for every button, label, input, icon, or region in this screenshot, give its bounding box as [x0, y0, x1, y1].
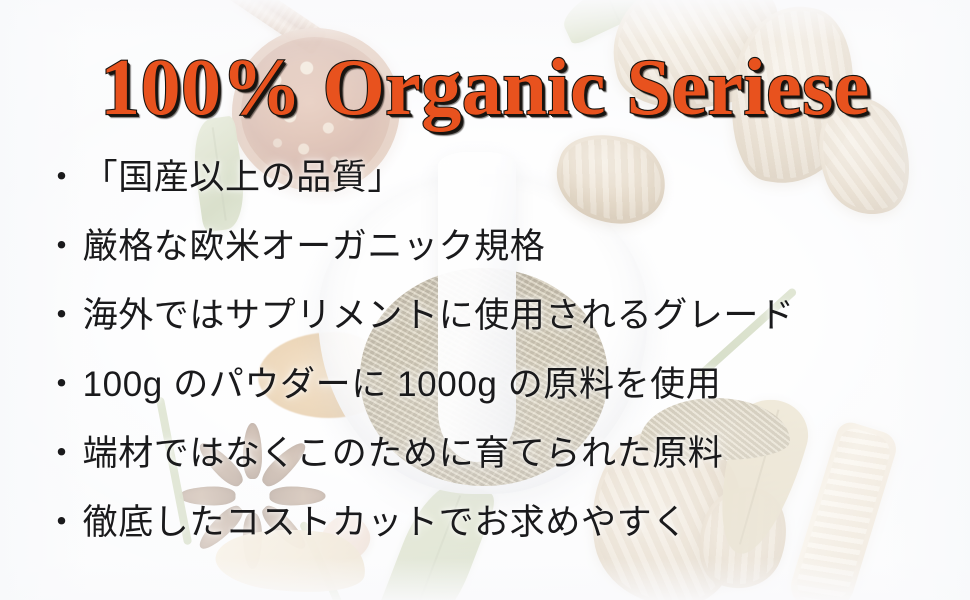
list-item: ・ 「国産以上の品質」 [44, 160, 944, 229]
bullet-dot-icon: ・ [44, 229, 80, 264]
bullet-dot-icon: ・ [44, 505, 80, 540]
bullet-dot-icon: ・ [44, 160, 80, 195]
list-item: ・ 徹底したコストカットでお求めやすく [44, 505, 944, 574]
bullet-dot-icon: ・ [44, 367, 80, 402]
list-item: ・ 厳格な欧米オーガニック規格 [44, 229, 944, 298]
list-item-label: 「国産以上の品質」 [83, 160, 403, 195]
bullet-dot-icon: ・ [44, 436, 80, 471]
list-item: ・ 海外ではサプリメントに使用されるグレード [44, 298, 944, 367]
feature-bullet-list: ・ 「国産以上の品質」 ・ 厳格な欧米オーガニック規格 ・ 海外ではサプリメント… [44, 160, 944, 574]
list-item-label: 100g のパウダーに 1000g の原料を使用 [83, 367, 722, 402]
list-item-label: 徹底したコストカットでお求めやすく [83, 505, 688, 540]
list-item-label: 厳格な欧米オーガニック規格 [83, 229, 546, 264]
list-item: ・ 端材ではなくこのために育てられた原料 [44, 436, 944, 505]
list-item-label: 端材ではなくこのために育てられた原料 [83, 436, 724, 471]
page-title: 100% Organic Seriese [0, 48, 970, 128]
list-item: ・ 100g のパウダーに 1000g の原料を使用 [44, 367, 944, 436]
bullet-dot-icon: ・ [44, 298, 80, 333]
list-item-label: 海外ではサプリメントに使用されるグレード [83, 298, 795, 333]
organic-series-banner: 100% Organic Seriese ・ 「国産以上の品質」 ・ 厳格な欧米… [0, 0, 970, 600]
